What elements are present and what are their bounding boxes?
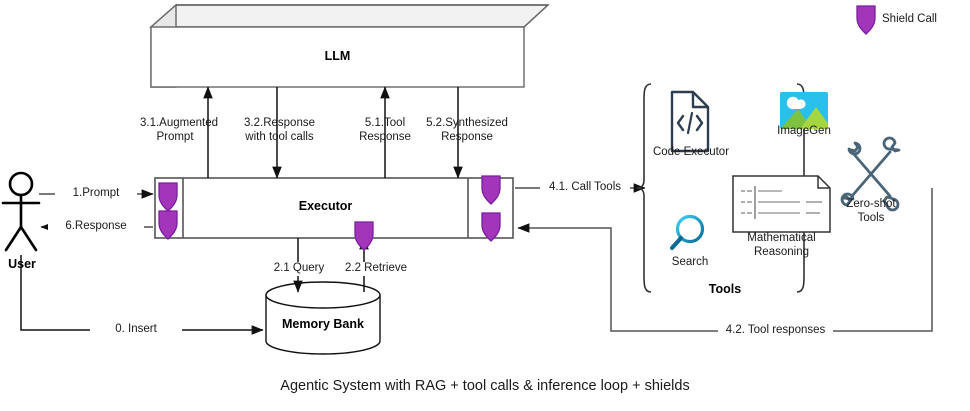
edge-label-3-2-line1: 3.2.Response bbox=[237, 117, 322, 131]
edge-label-2-2-retrieve: 2.2 Retrieve bbox=[330, 262, 422, 276]
tool-label-code-executor[interactable]: Code Executor bbox=[645, 146, 737, 160]
edge-label-1-prompt: 1.Prompt bbox=[55, 187, 137, 201]
tool-label-zeroshot-line1[interactable]: Zero-shot bbox=[838, 198, 904, 212]
node-llm bbox=[151, 5, 548, 87]
tool-label-imagegen[interactable]: ImageGen bbox=[770, 125, 838, 139]
diagram-canvas: Shield Call LLM Executor User Memory Ban… bbox=[0, 0, 970, 411]
legend-label: Shield Call bbox=[882, 13, 937, 27]
edge-label-5-2-line2: Response bbox=[422, 131, 512, 145]
node-user bbox=[3, 173, 39, 250]
edge-label-3-2-line2: with tool calls bbox=[237, 131, 322, 145]
edge-label-5-1-line1: 5.1.Tool bbox=[348, 117, 422, 131]
edge-0-insert bbox=[21, 255, 263, 330]
edge-label-0-insert: 0. Insert bbox=[90, 323, 182, 337]
diagram-caption: Agentic System with RAG + tool calls & i… bbox=[0, 378, 970, 394]
magnifier-icon bbox=[672, 217, 703, 249]
edge-label-4-1-call-tools: 4.1. Call Tools bbox=[540, 181, 630, 195]
code-document-icon bbox=[672, 92, 708, 151]
node-user-label: User bbox=[0, 258, 44, 272]
tool-label-zeroshot-line2: Tools bbox=[838, 212, 904, 226]
image-picture-icon bbox=[780, 92, 832, 129]
formula-document-icon bbox=[733, 176, 830, 232]
tool-label-math-line1[interactable]: Mathematical bbox=[733, 232, 830, 246]
node-llm-label: LLM bbox=[151, 50, 524, 64]
tool-label-math-line2: Reasoning bbox=[733, 246, 830, 260]
node-executor-label: Executor bbox=[183, 200, 468, 214]
shield-memory bbox=[355, 222, 373, 250]
edge-label-6-response: 6.Response bbox=[48, 220, 144, 234]
edge-label-2-1-query: 2.1 Query bbox=[260, 262, 338, 276]
edge-label-3-1-line2: Prompt bbox=[140, 131, 210, 145]
edge-label-4-2-tool-responses: 4.2. Tool responses bbox=[718, 324, 833, 338]
tool-label-search[interactable]: Search bbox=[663, 256, 717, 270]
node-memory-bank-label: Memory Bank bbox=[266, 318, 380, 332]
edge-label-3-1-line1: 3.1.Augmented bbox=[140, 117, 210, 131]
edge-label-5-1-line2: Response bbox=[348, 131, 422, 145]
tools-group-label: Tools bbox=[685, 283, 765, 297]
edge-label-5-2-line1: 5.2.Synthesized bbox=[422, 117, 512, 131]
legend-shield-icon bbox=[857, 6, 875, 34]
